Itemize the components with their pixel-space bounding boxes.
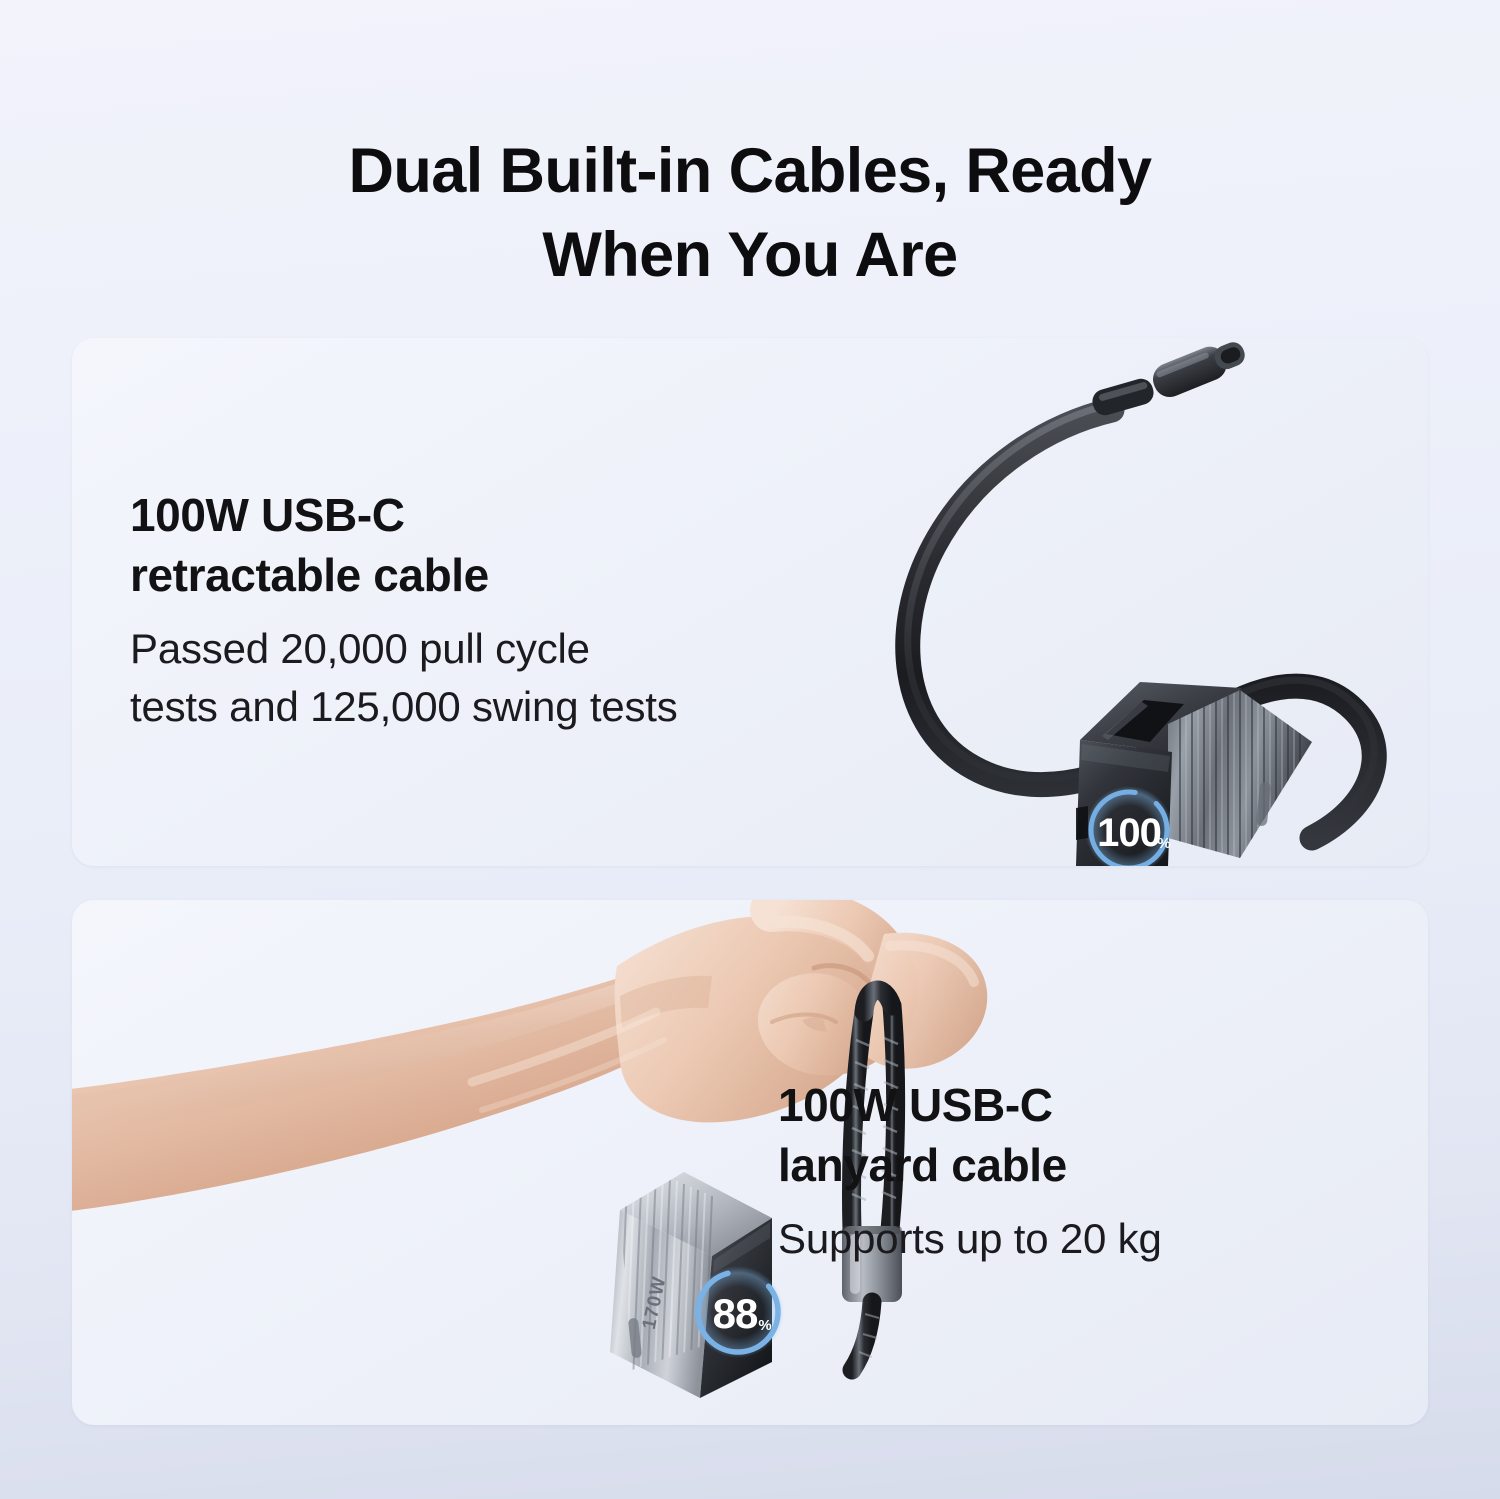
- lanyard-cable-text: 100W USB-C lanyard cable Supports up to …: [778, 1076, 1162, 1268]
- lanyard-cable-artwork: 170W 88 %: [72, 900, 1428, 1425]
- feature-card-retractable-cable: 100 % 100W USB-C retractable cable Passe…: [72, 338, 1428, 866]
- retractable-cable-heading: 100W USB-C retractable cable: [130, 486, 678, 606]
- usb-c-connector-icon: [1148, 338, 1250, 402]
- lanyard-cable-subtext: Supports up to 20 kg: [778, 1210, 1162, 1268]
- page-title-line-2: When You Are: [0, 214, 1500, 298]
- battery-percent-unit: %: [758, 1317, 771, 1334]
- infographic-page: Dual Built-in Cables, Ready When You Are: [0, 0, 1500, 1499]
- lanyard-cable-illustration: 170W 88 %: [72, 900, 1428, 1425]
- retractable-cable-text: 100W USB-C retractable cable Passed 20,0…: [130, 486, 678, 736]
- battery-percent-unit: %: [1157, 835, 1170, 852]
- side-port: [1076, 806, 1088, 840]
- lanyard-cable-heading: 100W USB-C lanyard cable: [778, 1076, 1162, 1196]
- page-title-line-1: Dual Built-in Cables, Ready: [349, 136, 1152, 206]
- page-title: Dual Built-in Cables, Ready When You Are: [0, 130, 1500, 298]
- power-bank-device: 170W 88 %: [610, 1160, 784, 1425]
- battery-percent-value: 100: [1097, 811, 1161, 855]
- feature-card-lanyard-cable: 170W 88 % 100W USB-C lanyard cable: [72, 900, 1428, 1425]
- battery-percent-value: 88: [713, 1290, 758, 1337]
- retractable-cable-subtext: Passed 20,000 pull cycle tests and 125,0…: [130, 620, 678, 736]
- battery-display: 88 %: [692, 1266, 784, 1358]
